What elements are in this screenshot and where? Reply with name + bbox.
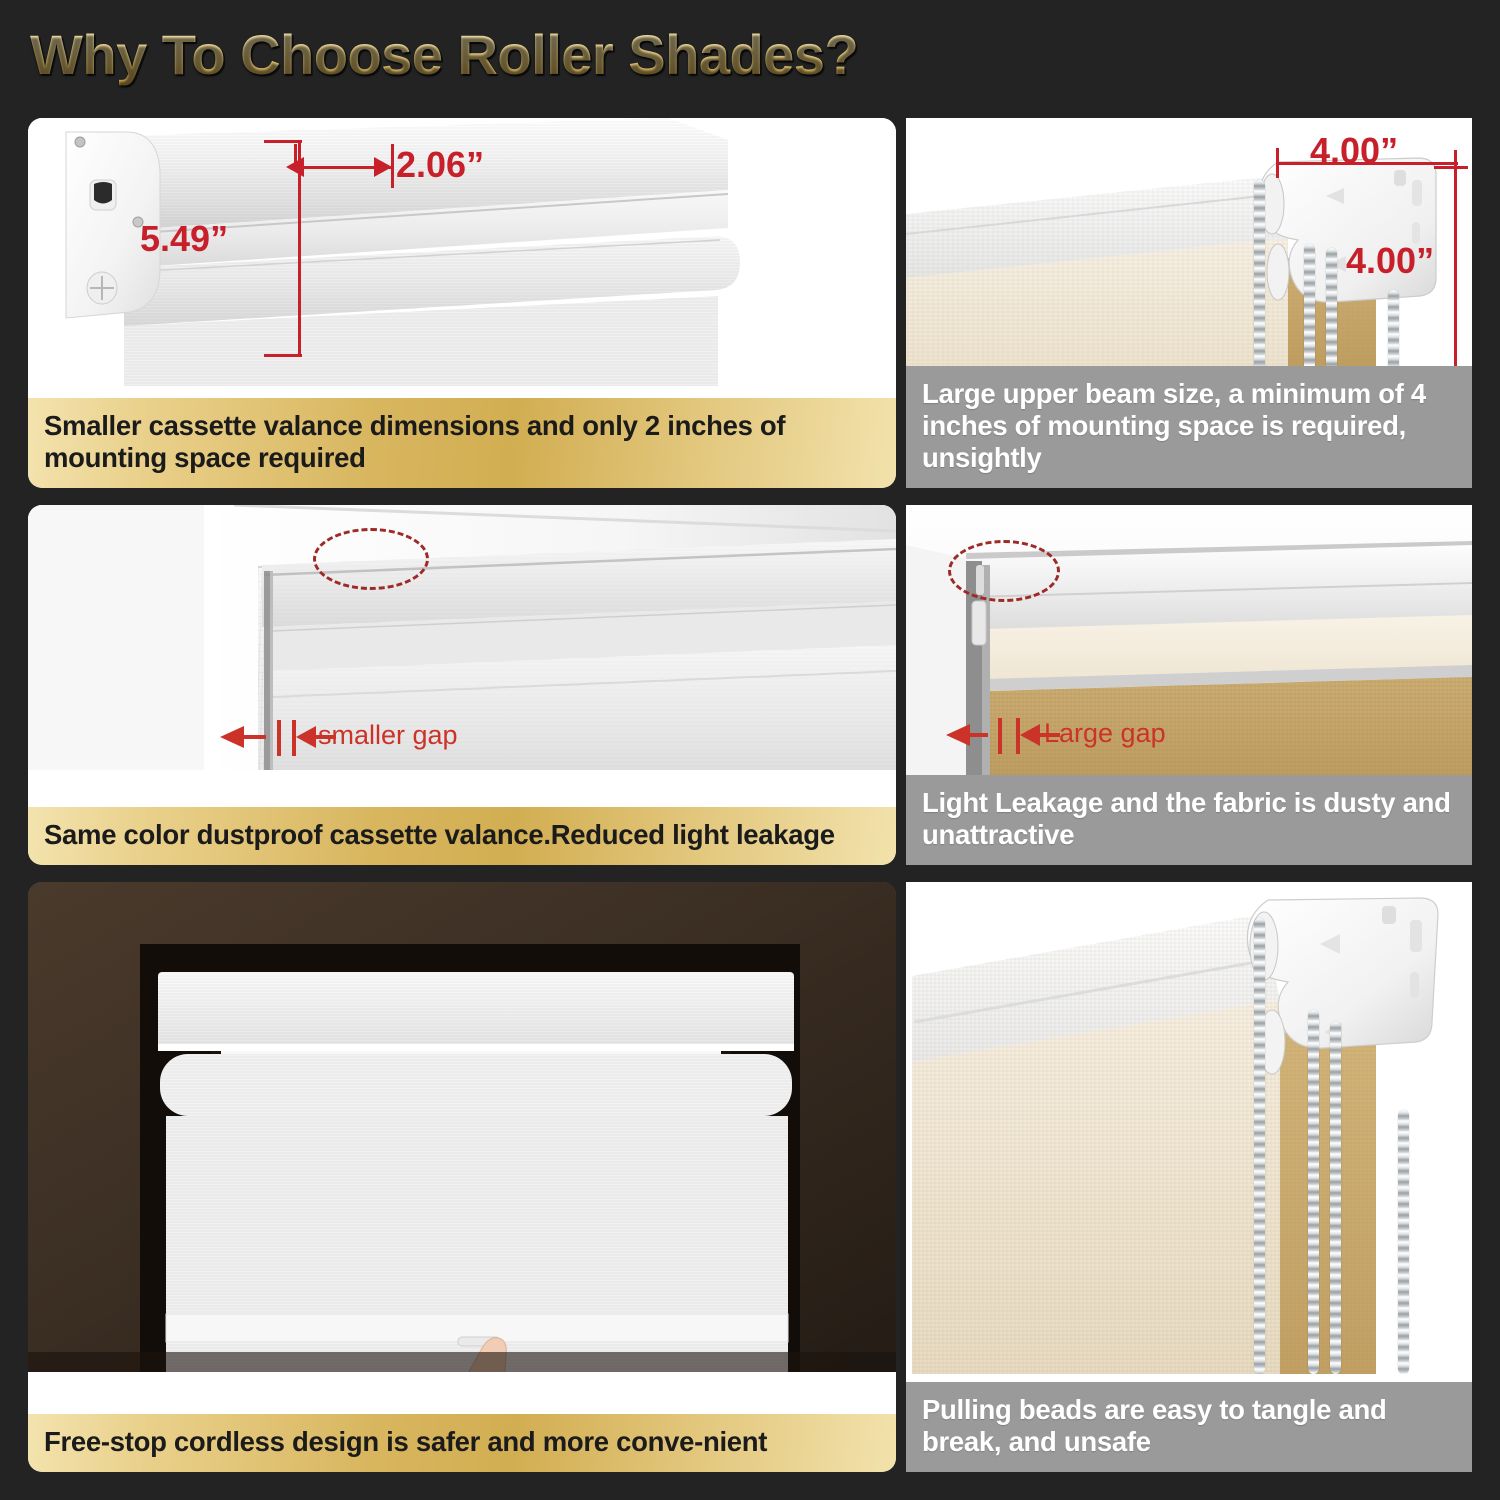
height-vertical-line <box>298 140 301 356</box>
large-gap-label: Large gap <box>1044 718 1166 749</box>
panel-2-caption: Large upper beam size, a minimum of 4 in… <box>906 366 1472 488</box>
large-beam-illustration: 4.00” 4.00” <box>906 118 1472 390</box>
beam-height-label: 4.00” <box>1346 240 1434 282</box>
beam-width-tick-left <box>1276 148 1279 178</box>
pull-bead-chain-2 <box>1308 1010 1319 1374</box>
beam-width-label: 4.00” <box>1310 130 1398 172</box>
pull-bead-chain-1 <box>1254 918 1265 1374</box>
window-valance-closeup <box>28 505 896 770</box>
comparison-grid: 2.06” 5.49” Smaller cassette valance dim… <box>0 0 1500 1500</box>
height-tick-top <box>264 140 302 143</box>
panel-4-caption: Light Leakage and the fabric is dusty an… <box>906 775 1472 865</box>
beam-height-tick-top <box>1434 166 1468 169</box>
smaller-gap-label: smaller gap <box>318 720 458 751</box>
width-dimension-label: 2.06” <box>396 144 484 186</box>
panel-6-caption: Pulling beads are easy to tangle and bre… <box>906 1382 1472 1472</box>
pull-bead-chain-4 <box>1398 1110 1409 1374</box>
panel-large-upper-beam: 4.00” 4.00” Large upper beam size, a min… <box>906 118 1472 488</box>
panel-1-caption: Smaller cassette valance dimensions and … <box>28 398 896 488</box>
panel-dustproof-cassette-valance: Same color dustproof cassette valance.Re… <box>28 505 896 865</box>
panel-3-dashed-ellipse <box>313 528 429 590</box>
bead-chain-1 <box>1254 180 1265 390</box>
window-room-scene <box>28 882 896 1372</box>
panel-pulling-beads: Pulling beads are easy to tangle and bre… <box>906 882 1472 1472</box>
height-dimension-label: 5.49” <box>140 218 228 260</box>
beam-height-line <box>1454 166 1457 390</box>
infographic-page: Why To Choose Roller Shades? Why To Choo… <box>0 0 1500 1500</box>
panel-3-image <box>28 505 896 770</box>
panel-2-image: 4.00” 4.00” <box>906 118 1472 390</box>
bead-chain-shade-illustration <box>906 882 1472 1374</box>
cassette-valance-illustration: 2.06” 5.49” <box>28 118 896 386</box>
panel-smaller-cassette-valance: 2.06” 5.49” Smaller cassette valance dim… <box>28 118 896 488</box>
panel-6-image <box>906 882 1472 1374</box>
panel-free-stop-cordless: Free-stop cordless design is safer and m… <box>28 882 896 1472</box>
panel-1-image: 2.06” 5.49” <box>28 118 896 386</box>
panel-5-image <box>28 882 896 1372</box>
height-tick-bottom <box>264 354 302 357</box>
panel-5-caption: Free-stop cordless design is safer and m… <box>28 1414 896 1472</box>
pull-bead-chain-3 <box>1330 1022 1341 1374</box>
panel-4-dashed-ellipse <box>948 540 1060 602</box>
panel-3-caption: Same color dustproof cassette valance.Re… <box>28 807 896 865</box>
